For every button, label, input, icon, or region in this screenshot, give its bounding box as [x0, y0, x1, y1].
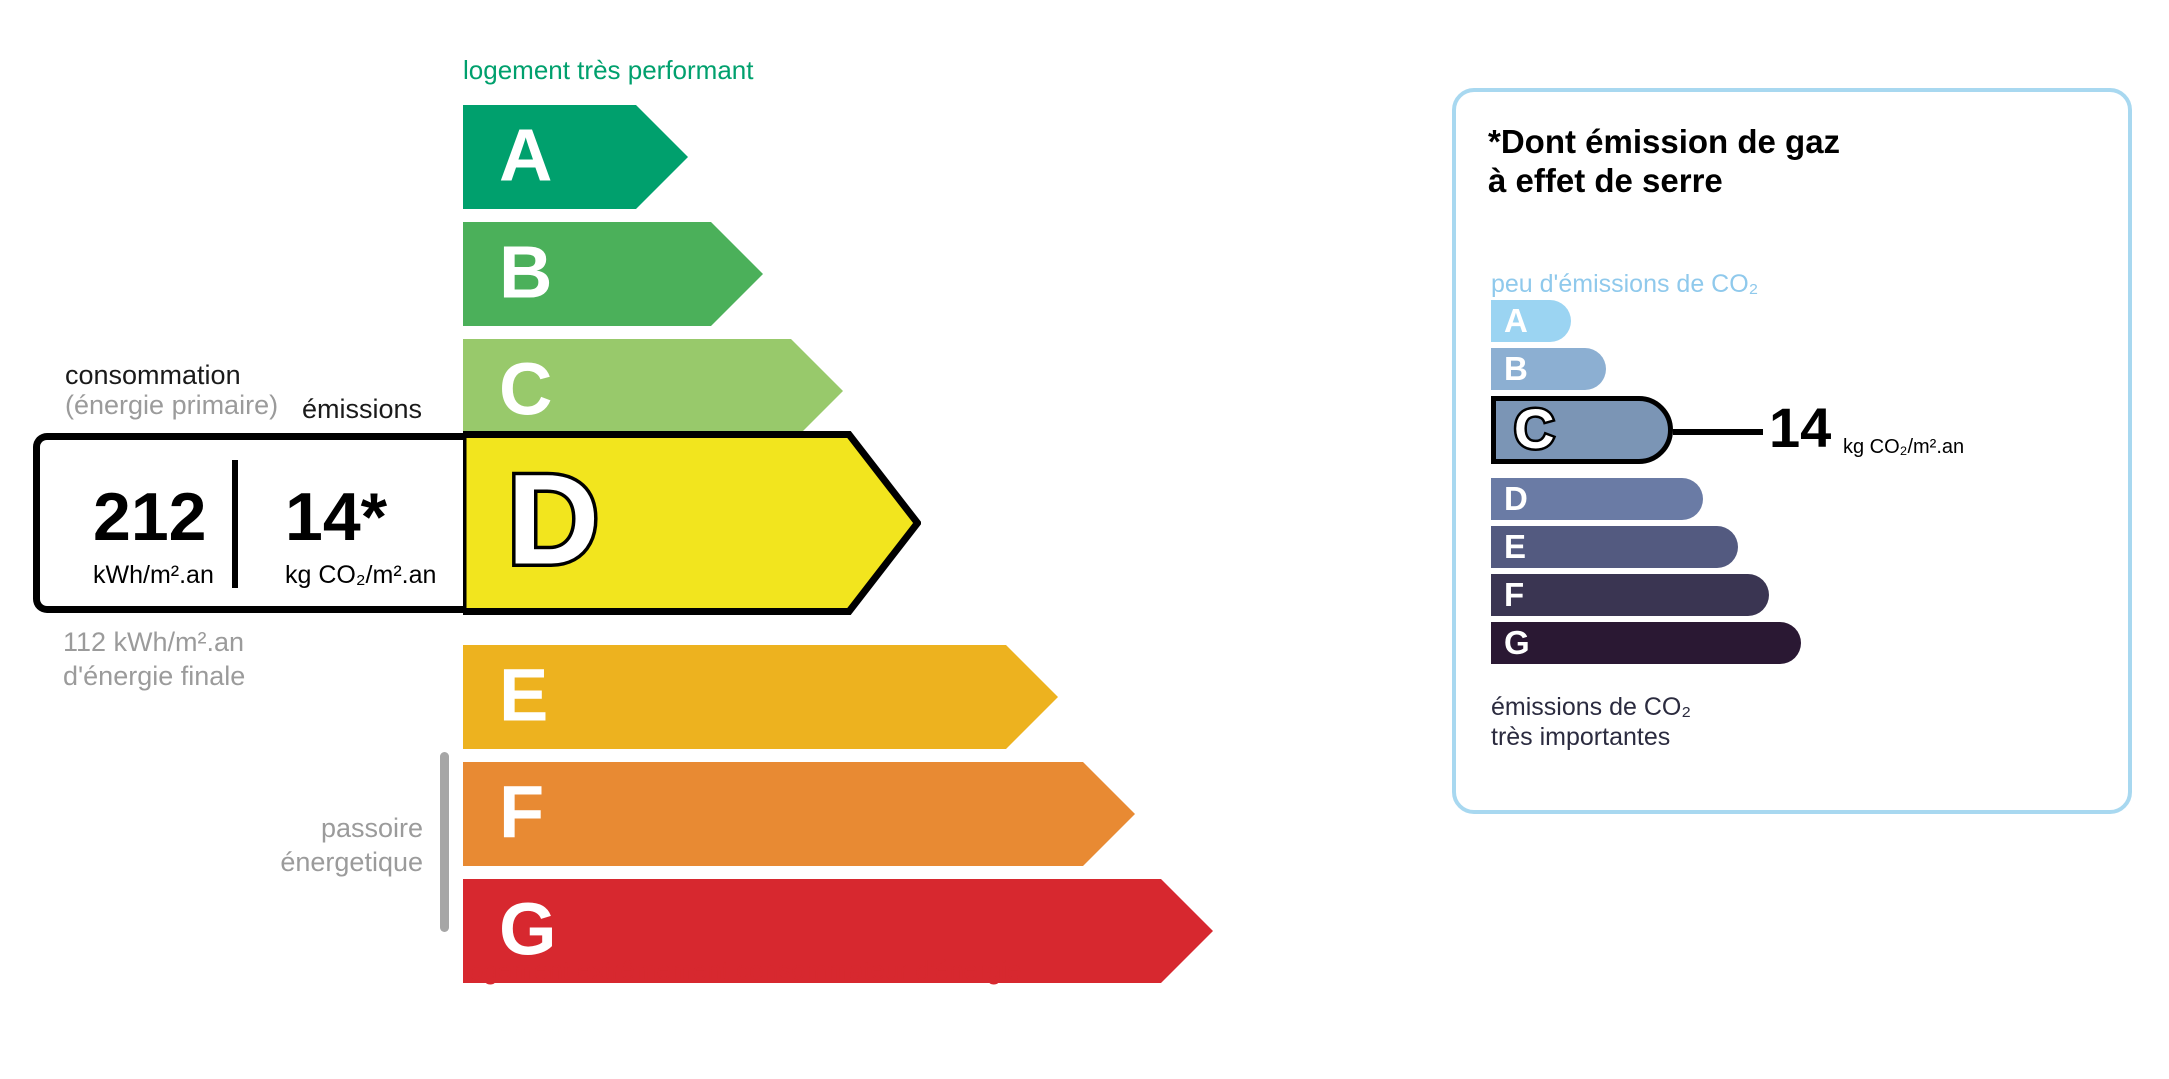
co2-band-a[interactable]: A: [1491, 300, 1571, 342]
band-c-letter: C: [499, 353, 552, 427]
co2-band-a-letter: A: [1504, 304, 1528, 337]
co2-value: 14: [1769, 400, 1831, 456]
co2-band-g-letter: G: [1504, 626, 1530, 659]
co2-band-d-letter: D: [1504, 482, 1528, 515]
co2-band-b-letter: B: [1504, 352, 1528, 385]
scale-top-caption: logement très performant: [463, 55, 753, 86]
co2-band-f[interactable]: F: [1491, 574, 1769, 616]
energy-band-d-selected[interactable]: D: [463, 431, 921, 615]
final-energy-note: 112 kWh/m².an d'énergie finale: [63, 626, 245, 694]
co2-bottom-caption: émissions de CO₂ très importantes: [1491, 692, 1691, 752]
emissions-unit: kg CO₂/m².an: [285, 563, 436, 588]
co2-band-c-letter: C: [1514, 401, 1554, 457]
emissions-value: 14*: [285, 483, 387, 551]
band-d-letter: D: [507, 456, 599, 584]
emissions-label: émissions: [302, 394, 422, 424]
band-b-letter: B: [499, 236, 552, 310]
band-e-arrow: [463, 645, 1058, 749]
consumption-unit: kWh/m².an: [93, 563, 214, 588]
energy-band-f[interactable]: F: [463, 762, 1135, 866]
value-box-divider: [232, 460, 238, 588]
co2-band-g[interactable]: G: [1491, 622, 1801, 664]
passoire-energetique-label: passoire énergetique: [243, 812, 423, 880]
co2-panel-title: *Dont émission de gaz à effet de serre: [1488, 123, 1840, 200]
band-e-letter: E: [499, 659, 548, 733]
band-a-letter: A: [499, 119, 552, 193]
energy-band-a[interactable]: A: [463, 105, 688, 209]
co2-band-e-letter: E: [1504, 530, 1526, 563]
co2-band-e[interactable]: E: [1491, 526, 1738, 568]
consumption-label-main: consommation: [65, 360, 241, 390]
co2-band-c-selected[interactable]: C: [1491, 396, 1673, 464]
scale-bottom-caption: logement extrêmement consommateur d'éner…: [463, 955, 1021, 986]
energy-band-b[interactable]: B: [463, 222, 763, 326]
band-a-arrow: [463, 105, 688, 209]
passoire-bracket: [440, 752, 449, 932]
co2-band-d[interactable]: D: [1491, 478, 1703, 520]
co2-value-unit: kg CO₂/m².an: [1843, 437, 1964, 457]
consumption-label-sub: (énergie primaire): [65, 390, 278, 420]
energy-band-e[interactable]: E: [463, 645, 1058, 749]
consumption-value: 212: [93, 483, 206, 551]
consumption-label: consommation (énergie primaire): [65, 360, 278, 420]
energy-band-c[interactable]: C: [463, 339, 843, 443]
co2-band-f-letter: F: [1504, 578, 1524, 611]
band-f-letter: F: [499, 776, 544, 850]
band-f-arrow: [463, 762, 1135, 866]
co2-leader-line: [1673, 429, 1763, 435]
co2-band-b[interactable]: B: [1491, 348, 1606, 390]
energy-performance-scale: logement très performant A B C D E F G l…: [0, 0, 1380, 1079]
co2-top-caption: peu d'émissions de CO₂: [1491, 270, 1758, 299]
